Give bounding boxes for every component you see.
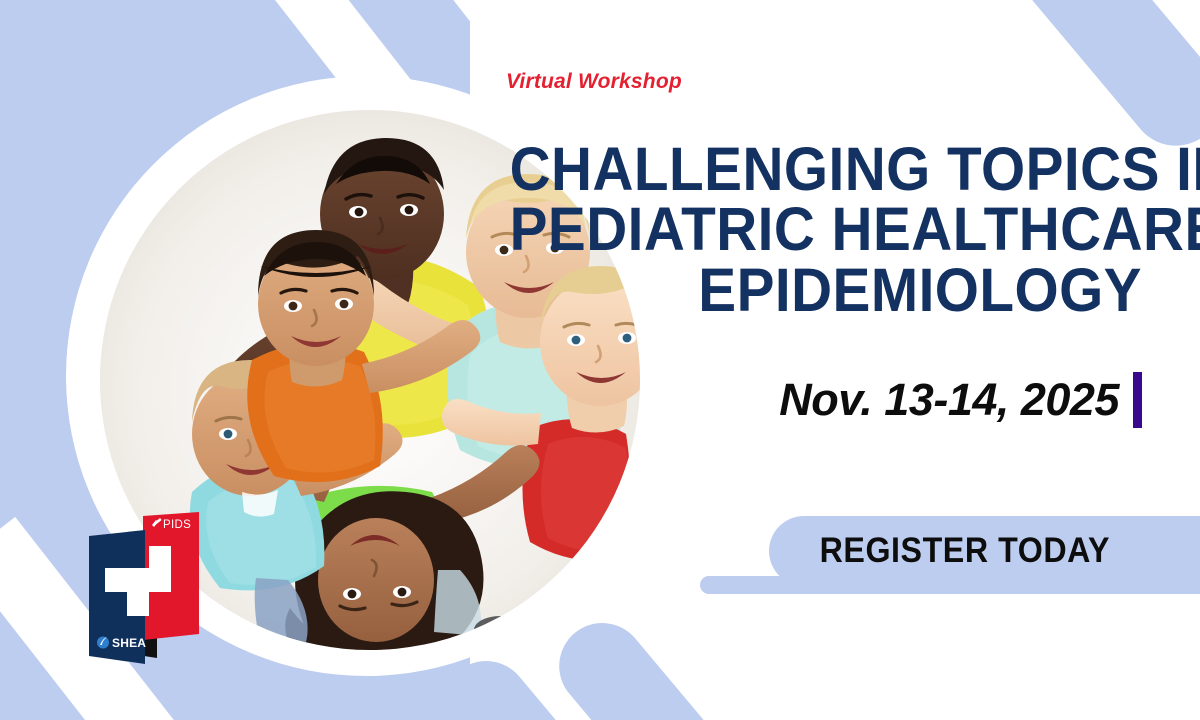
headline-line-1: CHALLENGING TOPICS IN: [510, 139, 1142, 199]
promo-banner: Virtual Workshop CHALLENGING TOPICS IN P…: [0, 0, 1200, 720]
headline-line-2: PEDIATRIC HEALTHCARE: [510, 199, 1142, 259]
svg-text:SHEA: SHEA: [112, 636, 146, 650]
purple-accent-bar: [1133, 372, 1142, 428]
page-title: CHALLENGING TOPICS IN PEDIATRIC HEALTHCA…: [510, 139, 1142, 320]
shea-pids-logo[interactable]: PIDS SHEA: [83, 508, 205, 670]
event-date-row: Nov. 13-14, 2025: [779, 372, 1142, 428]
event-date: Nov. 13-14, 2025: [779, 374, 1119, 426]
register-today-button[interactable]: REGISTER TODAY: [769, 516, 1200, 586]
capsule-bar-bottom-1: [542, 605, 801, 720]
svg-text:PIDS: PIDS: [163, 519, 191, 531]
register-today-label: REGISTER TODAY: [819, 531, 1109, 571]
shea-logo-text: SHEA: [97, 636, 146, 650]
eyebrow-label: Virtual Workshop: [506, 70, 682, 94]
headline-line-3: EPIDEMIOLOGY: [510, 260, 1142, 320]
